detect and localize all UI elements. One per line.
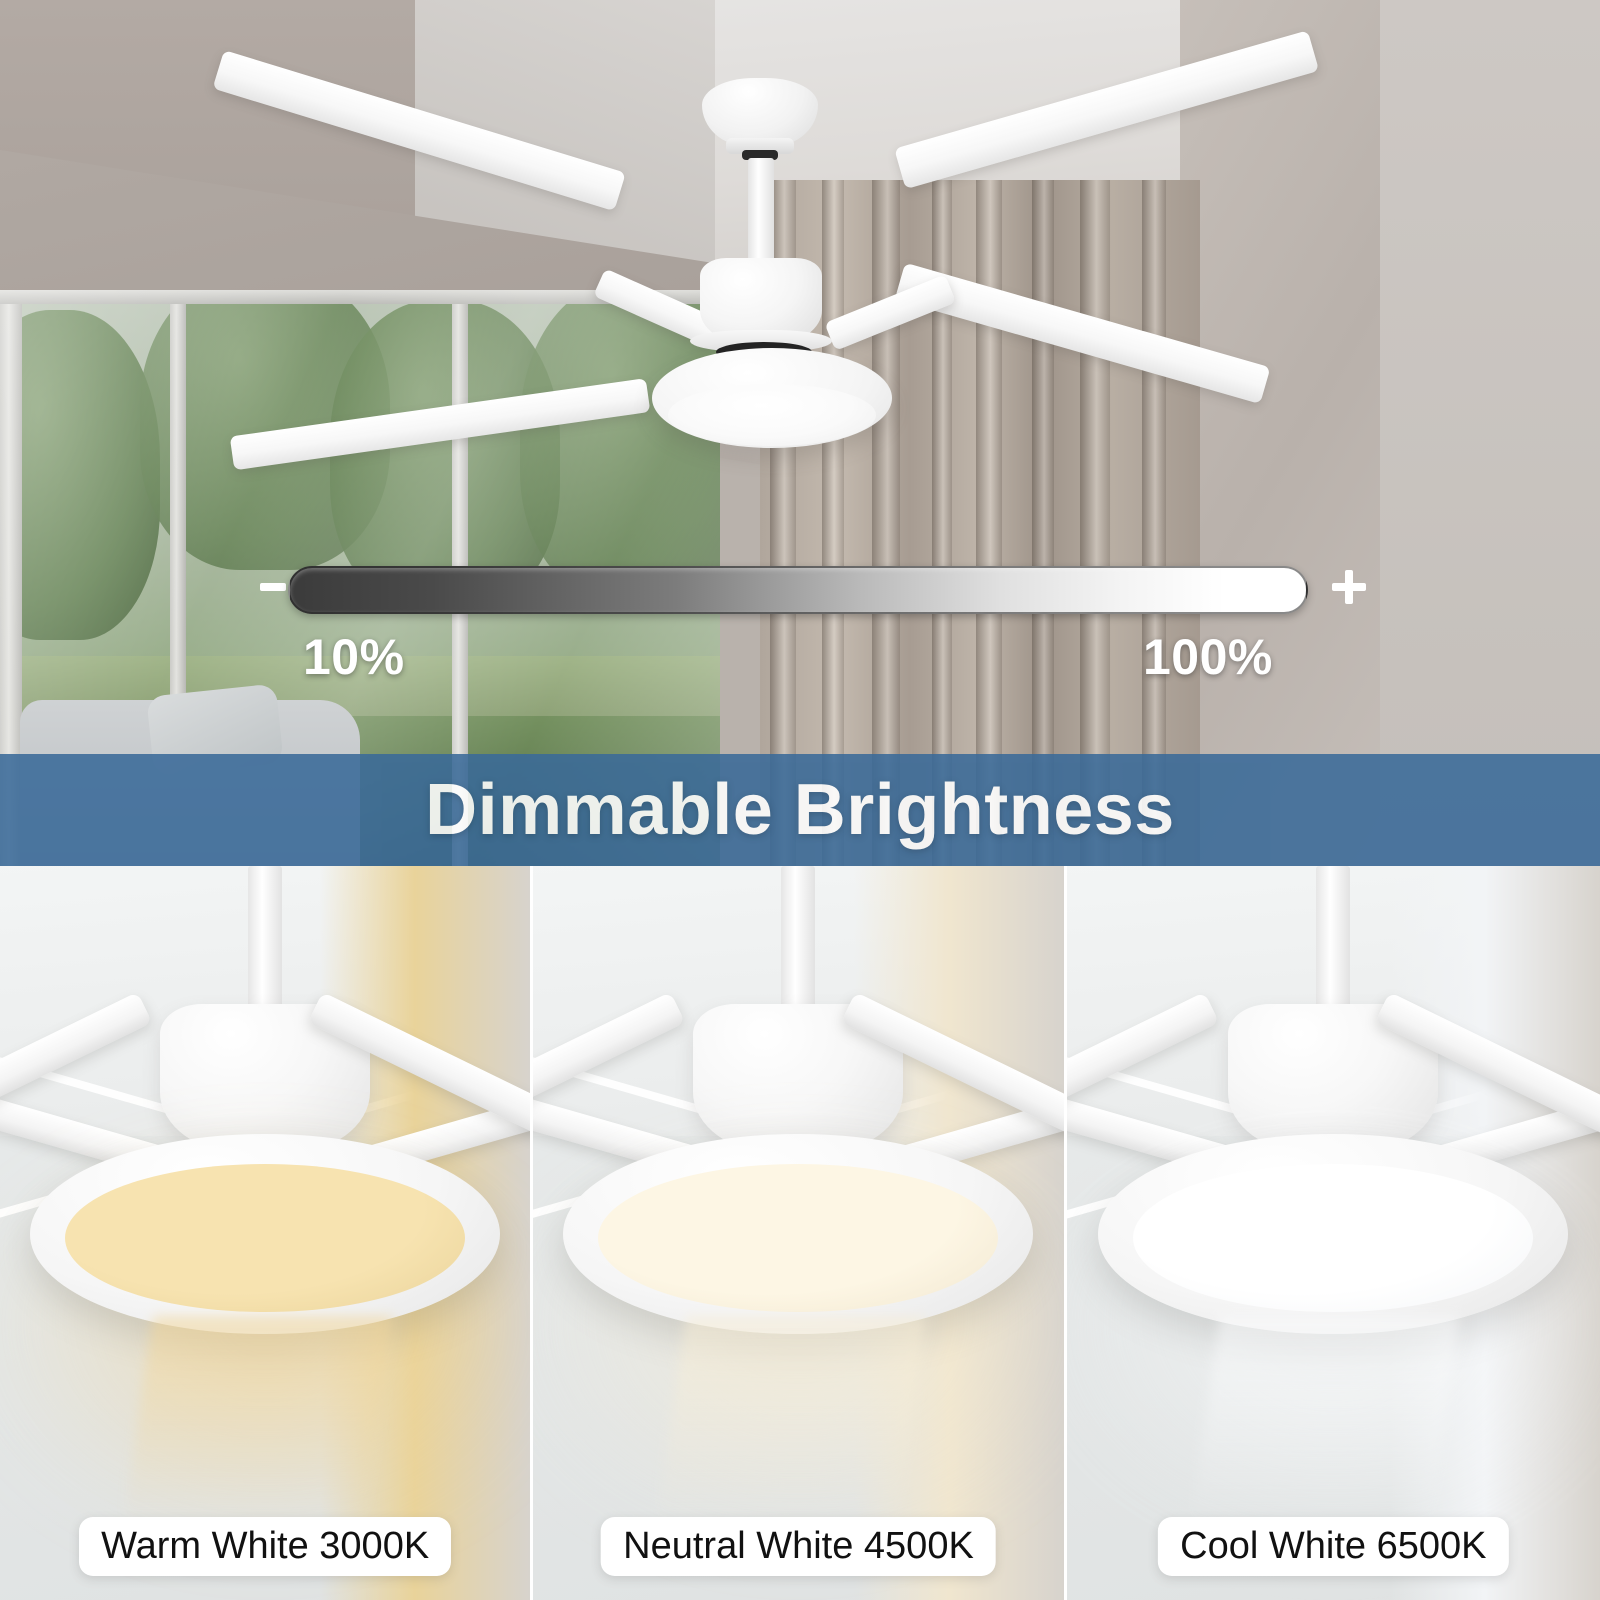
color-temp-label: Cool White 6500K <box>1158 1517 1508 1576</box>
color-temp-panel-warm-white[interactable]: Warm White 3000K <box>0 866 533 1600</box>
minus-icon[interactable] <box>260 583 286 591</box>
slider-track[interactable] <box>288 566 1308 614</box>
slider-max-label: 100% <box>1143 628 1273 686</box>
light-spill <box>656 1316 926 1526</box>
light-lens <box>1133 1164 1533 1312</box>
light-spill <box>1191 1316 1461 1526</box>
fan-downrod <box>1316 866 1350 1016</box>
light-lens <box>65 1164 465 1312</box>
color-temp-panel-cool-white[interactable]: Cool White 6500K <box>1067 866 1600 1600</box>
hero-room-scene: 10% 100% <box>0 0 1600 866</box>
plus-icon[interactable] <box>1332 570 1366 604</box>
brightness-slider[interactable]: 10% 100% <box>0 0 1600 866</box>
slider-min-label: 10% <box>303 628 405 686</box>
light-lens <box>598 1164 998 1312</box>
fan-downrod <box>248 866 282 1016</box>
color-temp-label: Warm White 3000K <box>79 1517 451 1576</box>
fan-downrod <box>781 866 815 1016</box>
color-temp-label: Neutral White 4500K <box>601 1517 996 1576</box>
product-feature-image: 10% 100% Dimmable Brightness Warm White … <box>0 0 1600 1600</box>
feature-banner: Dimmable Brightness <box>0 754 1600 866</box>
color-temp-panel-neutral-white[interactable]: Neutral White 4500K <box>533 866 1066 1600</box>
banner-title: Dimmable Brightness <box>425 769 1175 851</box>
color-temperature-row: Warm White 3000K Neutral White 4500K <box>0 866 1600 1600</box>
light-spill <box>123 1316 393 1526</box>
